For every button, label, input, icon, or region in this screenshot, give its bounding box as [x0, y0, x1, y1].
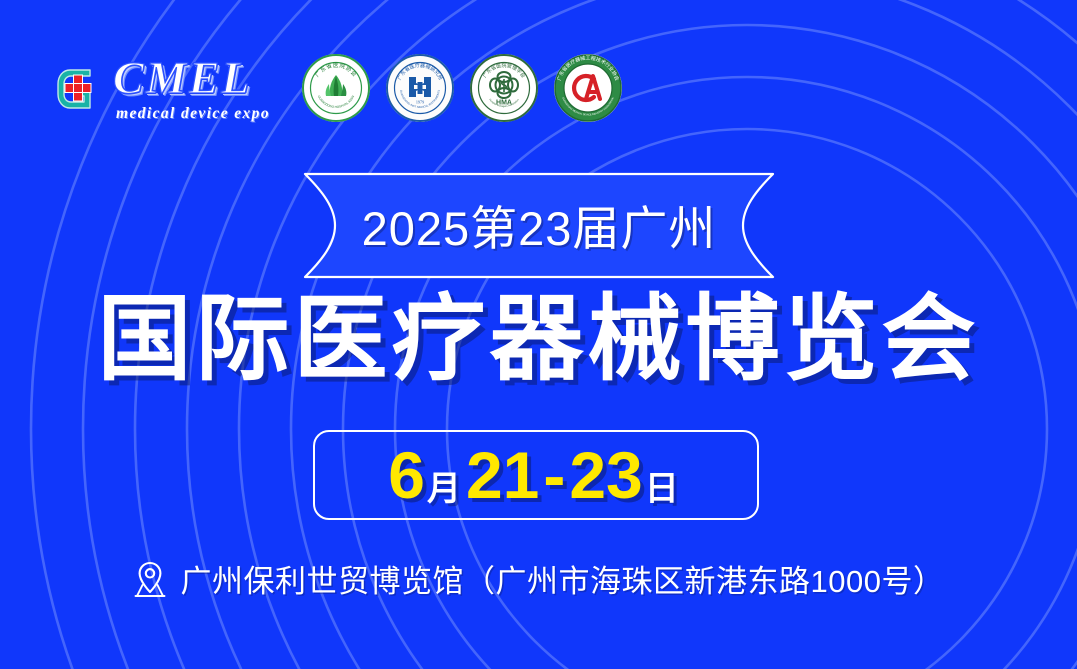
date-month-unit: 月	[427, 472, 461, 518]
date-month: 6	[388, 442, 425, 508]
date-day-unit: 日	[645, 472, 679, 518]
cmel-g-cross-logo-icon	[52, 60, 104, 116]
venue-address: 广州保利世贸博览馆（广州市海珠区新港东路1000号）	[181, 556, 945, 601]
seal-medical-device-industry-association[interactable]: 广东省医疗器械工程技术行业协会 GUANGDONG MEDICAL DEVICE…	[554, 54, 622, 122]
location-pin-icon	[133, 560, 167, 598]
seal-guangdong-institute-medical-instruments[interactable]: 1979 广东省医疗器械研究所 GUANGDONG INST. MEDICAL …	[386, 54, 454, 122]
date-badge: 6 月 21 - 23 日	[313, 430, 759, 520]
cmel-tagline: medical device expo	[116, 106, 270, 122]
cmel-name: CMEL	[113, 55, 270, 101]
date-day-separator: -	[539, 442, 569, 508]
svg-text:1979: 1979	[416, 100, 424, 105]
seal-guangdong-hospital-association[interactable]: 广东省医院协会 GUANGDONG HOSPITAL ASSN	[302, 54, 370, 122]
cmel-brand-logo[interactable]: CMEL medical device expo	[52, 55, 270, 122]
venue-line: 广州保利世贸博览馆（广州市海珠区新港东路1000号）	[0, 556, 1077, 601]
ribbon-label: 2025第23届广州	[303, 172, 775, 279]
cmel-wordmark: CMEL medical device expo	[113, 55, 270, 122]
seal-hospital-managers-association[interactable]: HMA 广东省医院管理学会 Hospital Managers Associat…	[470, 54, 538, 122]
poster-canvas: CMEL medical device expo 广东省医院协会	[0, 0, 1077, 669]
ribbon-banner: 2025第23届广州	[303, 172, 775, 279]
date-day-end: 23	[569, 442, 642, 508]
date-day-start: 21	[466, 442, 539, 508]
logo-row: CMEL medical device expo 广东省医院协会	[52, 42, 622, 134]
page-title: 国际医疗器械博览会	[0, 292, 1077, 386]
